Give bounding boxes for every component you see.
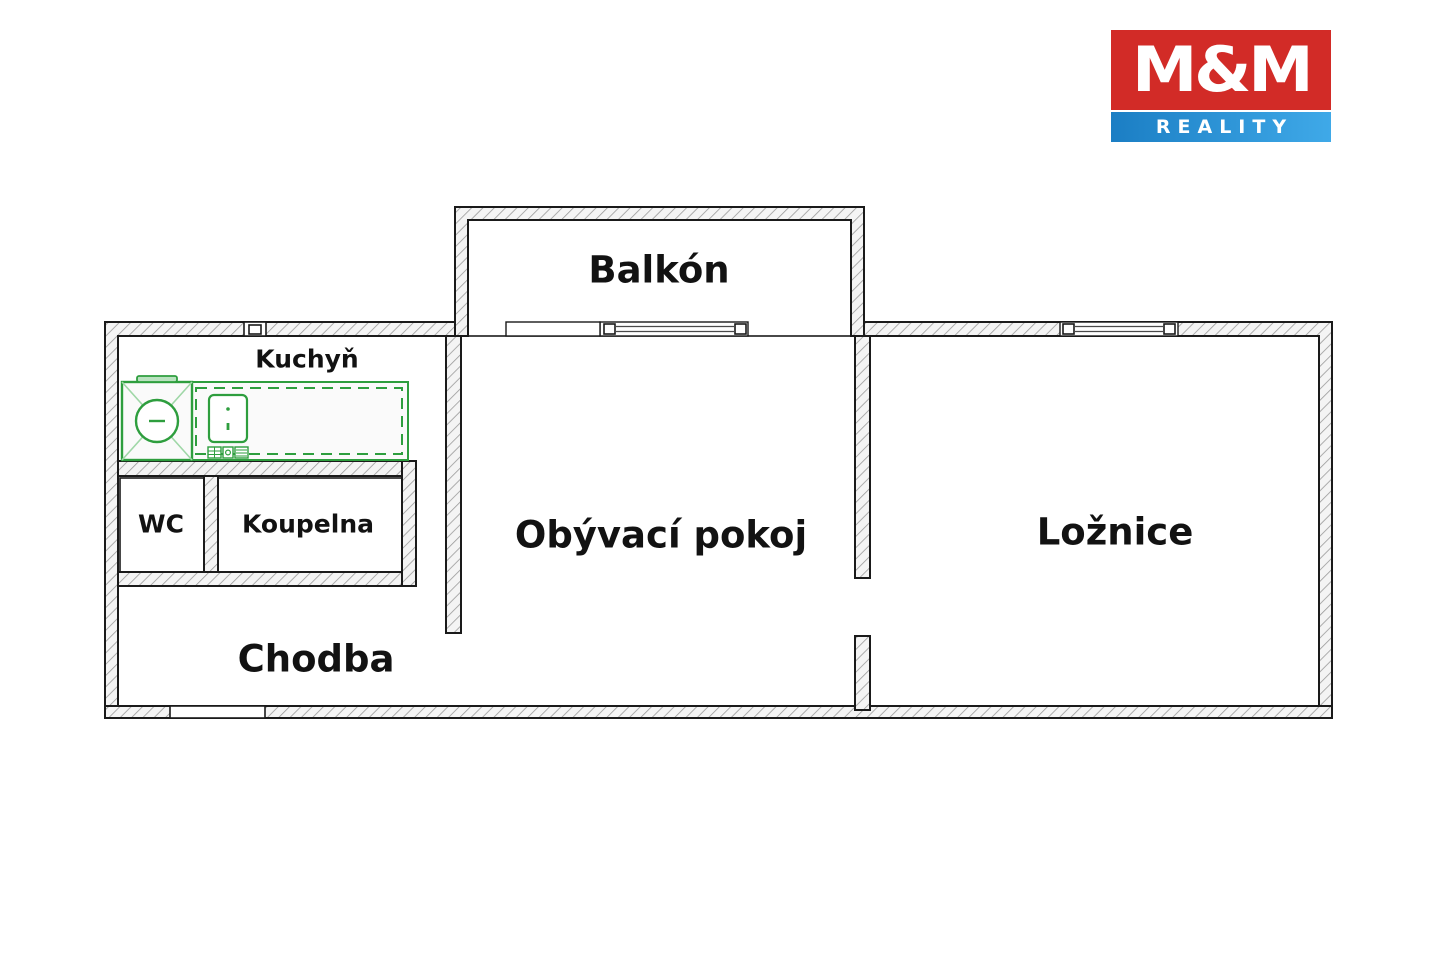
wall-hall-living	[446, 336, 461, 633]
room-label-loznice: Ložnice	[1037, 511, 1194, 554]
kitchen-fixture-group	[122, 376, 408, 460]
wall-bath-bottom	[118, 572, 416, 586]
room-label-kuchyn: Kuchyň	[255, 345, 358, 374]
balcony-left-sill	[506, 322, 600, 336]
room-label-koupelna: Koupelna	[242, 510, 374, 539]
wall-living-bedroom-lower	[855, 636, 870, 710]
wall-bath-right	[402, 461, 416, 586]
kitchen-appliances	[208, 447, 248, 458]
entrance-door	[170, 706, 265, 718]
wall-kitchen-bath	[118, 461, 416, 476]
wall-outer-bottom	[105, 706, 1332, 718]
kitchen-window	[244, 322, 266, 336]
floor-plan-drawing	[0, 0, 1440, 960]
room-label-wc: WC	[138, 510, 184, 539]
wall-wc-koupelna	[204, 476, 218, 572]
bedroom-window	[1060, 322, 1178, 336]
room-label-chodba: Chodba	[238, 638, 395, 681]
balcony-door-window	[600, 322, 748, 336]
wall-living-bedroom-upper	[855, 336, 870, 578]
stove-handle	[137, 376, 177, 382]
room-label-obyvaci: Obývací pokoj	[515, 514, 807, 557]
stove-cooktop	[122, 376, 192, 460]
kitchen-sink	[209, 395, 247, 442]
room-label-balkon: Balkón	[588, 249, 729, 292]
